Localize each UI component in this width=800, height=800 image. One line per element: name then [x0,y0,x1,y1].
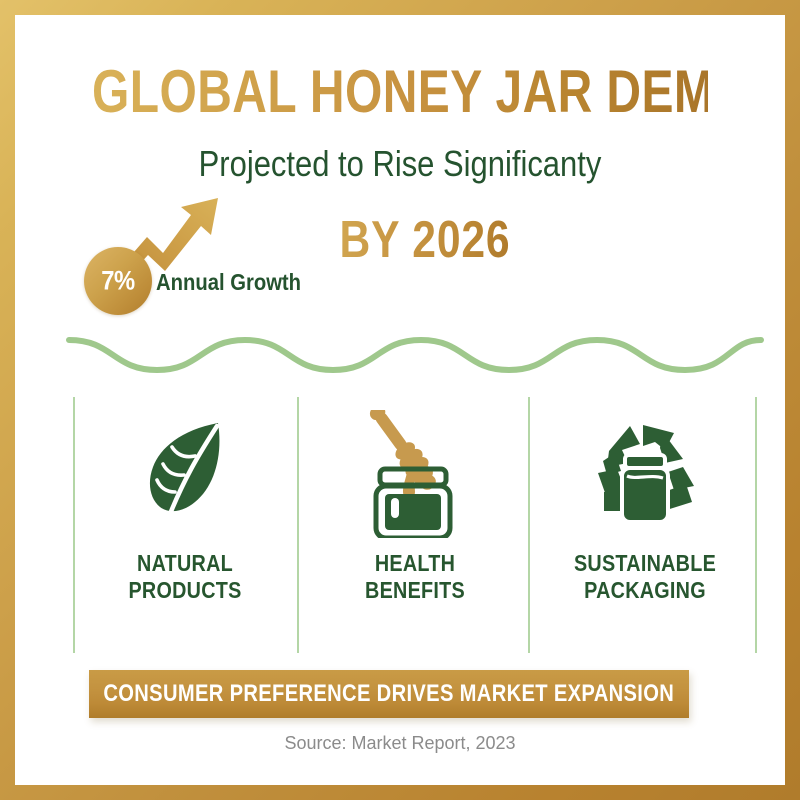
feature-label-line1: SUSTAINABLE [574,550,716,576]
leaf-icon-wrap [77,404,293,544]
annual-growth-label: Annual Growth [156,268,301,296]
page-title: GLOBAL HONEY JAR DEMAND [92,59,708,125]
column-rule-4 [755,397,757,653]
recycle-jar-icon [582,414,708,534]
honey-jar-dipper-icon-wrap [307,404,523,544]
page-subtitle: Projected to Rise Significanty [69,143,731,185]
feature-label-sustainable-packaging: SUSTAINABLE PACKAGING [552,550,738,604]
callout-banner: CONSUMER PREFERENCE DRIVES MARKET EXPANS… [89,670,689,718]
feature-label-line2: PACKAGING [552,577,738,604]
honey-jar-dipper-icon [355,410,475,538]
feature-label-line2: BENEFITS [322,577,508,604]
annual-growth-badge: 7% [84,247,152,315]
infographic-poster: GLOBAL HONEY JAR DEMAND Projected to Ris… [0,0,800,800]
feature-label-line1: HEALTH [375,550,455,576]
source-caption: Source: Market Report, 2023 [15,732,785,754]
feature-natural-products: NATURAL PRODUCTS [77,382,293,653]
feature-label-line2: PRODUCTS [92,577,278,604]
leaf-icon [139,414,231,534]
feature-label-health-benefits: HEALTH BENEFITS [322,550,508,604]
annual-growth-value: 7% [88,268,148,295]
recycle-jar-icon-wrap [537,404,753,544]
feature-columns: NATURAL PRODUCTS [59,382,771,653]
target-year-headline: BY 2026 [327,211,524,269]
callout-banner-text: CONSUMER PREFERENCE DRIVES MARKET EXPANS… [104,680,675,708]
feature-label-line1: NATURAL [137,550,233,576]
column-rule-3 [528,397,530,653]
poster-canvas: GLOBAL HONEY JAR DEMAND Projected to Ris… [15,15,785,785]
feature-health-benefits: HEALTH BENEFITS [307,382,523,653]
feature-label-natural-products: NATURAL PRODUCTS [92,550,278,604]
column-rule-1 [73,397,75,653]
feature-sustainable-packaging: SUSTAINABLE PACKAGING [537,382,753,653]
wave-divider [65,323,765,381]
column-rule-2 [297,397,299,653]
